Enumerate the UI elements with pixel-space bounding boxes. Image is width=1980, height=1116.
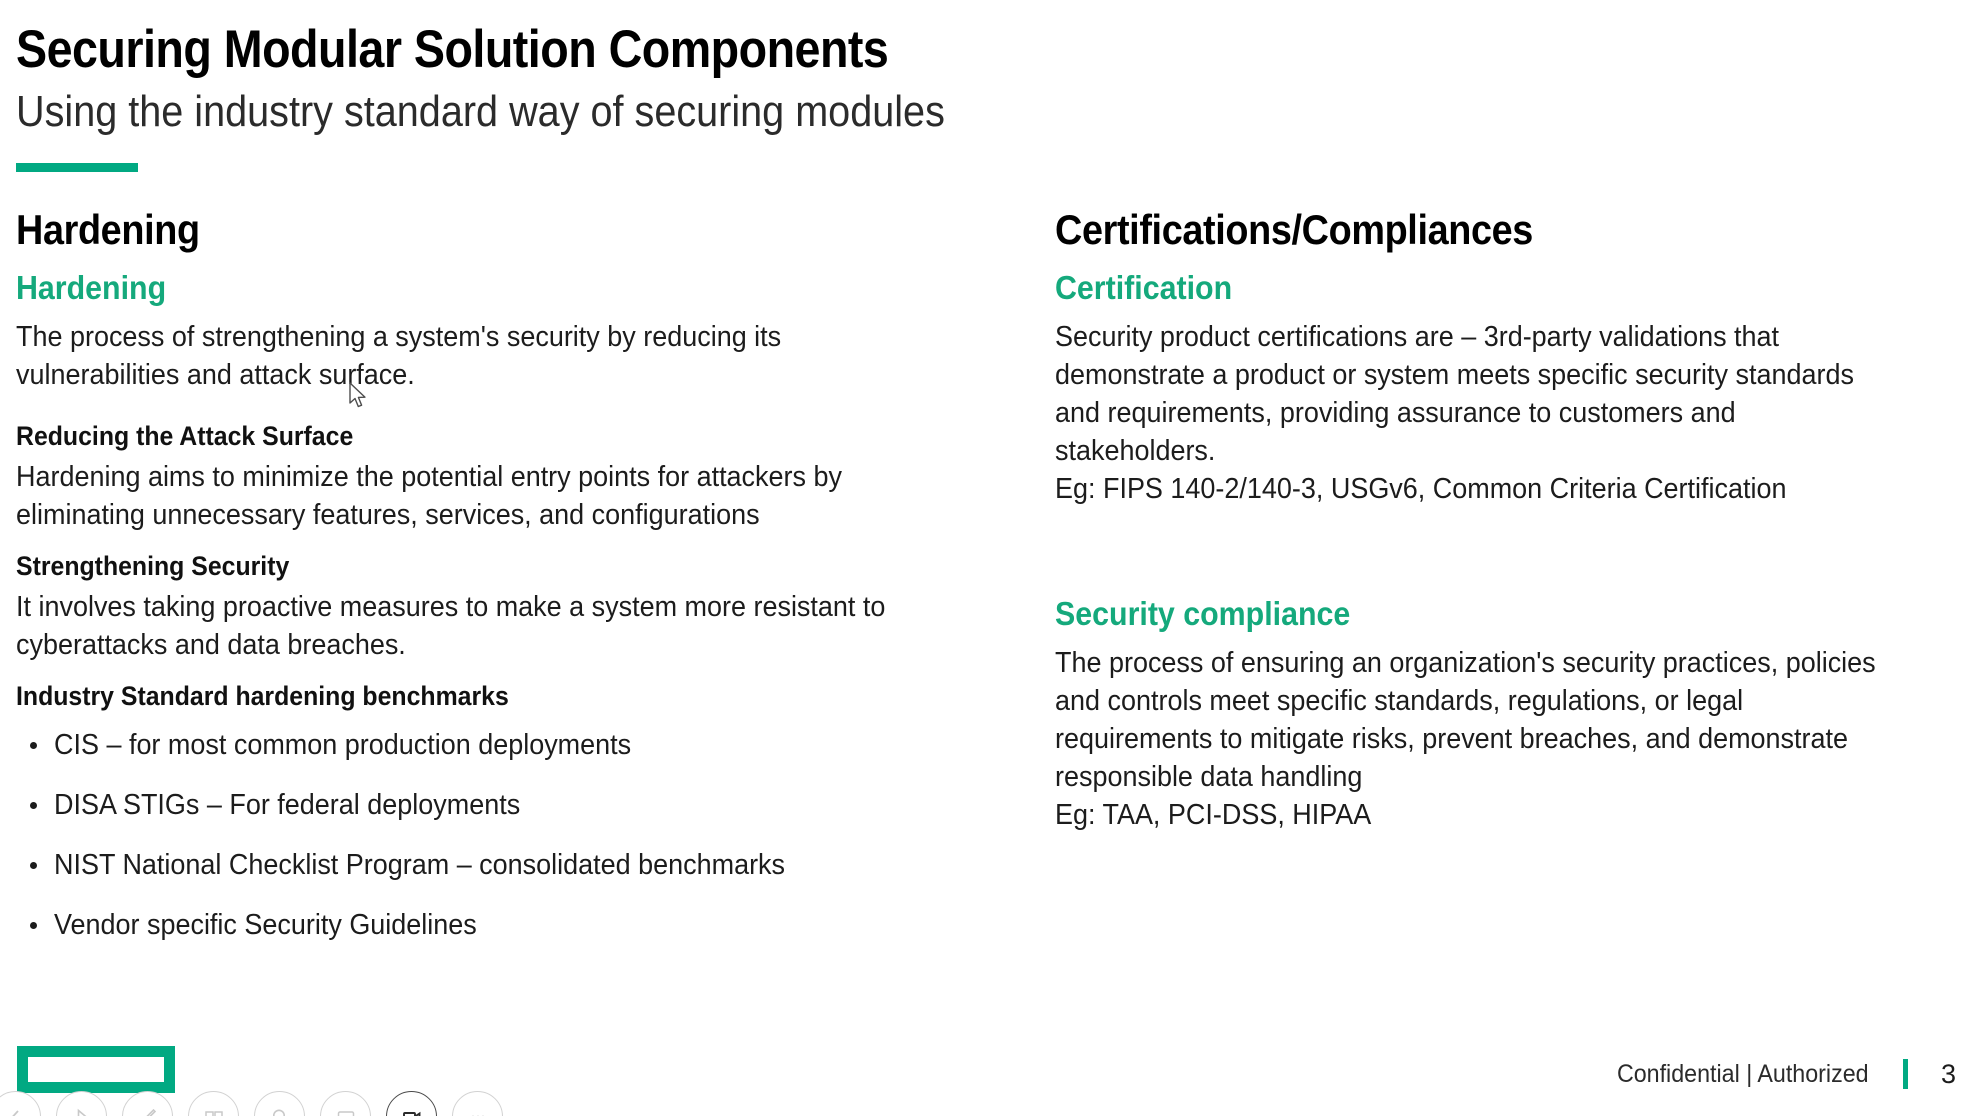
laser-pointer-button[interactable] [56, 1091, 107, 1116]
page-number: 3 [1934, 1059, 1956, 1089]
list-item-label: CIS – for most common production deploym… [54, 728, 631, 762]
layout-icon [203, 1106, 225, 1116]
left-subheading-hardening: Hardening [16, 268, 881, 308]
more-options-button[interactable] [452, 1091, 503, 1116]
spacer [16, 534, 956, 548]
video-camera-icon [401, 1106, 423, 1116]
ellipsis-icon [467, 1106, 489, 1116]
slide-layout-button[interactable] [188, 1091, 239, 1116]
magnifier-icon [269, 1106, 291, 1116]
title-accent-bar [16, 163, 138, 172]
lead-strengthening-security: Strengthening Security [16, 548, 881, 584]
footer-right: Confidential | Authorized 3 [1598, 1059, 1956, 1089]
body-security-compliance: The process of ensuring an organization'… [1055, 644, 1901, 796]
example-certification: Eg: FIPS 140-2/140-3, USGv6, Common Crit… [1055, 470, 1901, 508]
previous-slide-button[interactable] [0, 1091, 41, 1116]
list-item: Vendor specific Security Guidelines [16, 908, 956, 942]
camera-button[interactable] [386, 1091, 437, 1116]
spacer [16, 664, 956, 678]
list-item: CIS – for most common production deploym… [16, 728, 956, 762]
body-certification: Security product certifications are – 3r… [1055, 318, 1901, 470]
pen-icon [137, 1106, 159, 1116]
right-subheading-certification: Certification [1055, 268, 1892, 308]
page-title: Securing Modular Solution Components [16, 20, 1670, 80]
right-subheading-security-compliance: Security compliance [1055, 594, 1892, 634]
left-column-heading: Hardening [16, 206, 862, 254]
list-item-label: NIST National Checklist Program – consol… [54, 848, 785, 882]
presenter-toolbar[interactable] [0, 1091, 503, 1116]
slide-canvas: Securing Modular Solution Components Usi… [0, 0, 1980, 1116]
benchmark-bullet-list: CIS – for most common production deploym… [16, 728, 956, 942]
subtitles-button[interactable] [320, 1091, 371, 1116]
pen-button[interactable] [122, 1091, 173, 1116]
chevron-left-icon [6, 1107, 26, 1116]
example-security-compliance: Eg: TAA, PCI-DSS, HIPAA [1055, 796, 1901, 834]
left-intro-text: The process of strengthening a system's … [16, 318, 890, 394]
body-reducing-attack-surface: Hardening aims to minimize the potential… [16, 458, 890, 534]
left-column: Hardening Hardening The process of stren… [16, 206, 956, 968]
pointer-icon [72, 1107, 92, 1116]
spacer [1055, 508, 1965, 594]
body-strengthening-security: It involves taking proactive measures to… [16, 588, 890, 664]
lead-industry-benchmarks: Industry Standard hardening benchmarks [16, 678, 881, 714]
zoom-button[interactable] [254, 1091, 305, 1116]
lead-reducing-attack-surface: Reducing the Attack Surface [16, 418, 881, 454]
title-block: Securing Modular Solution Components Usi… [16, 20, 1896, 138]
right-column-heading: Certifications/Compliances [1055, 206, 1874, 254]
list-item-label: DISA STIGs – For federal deployments [54, 788, 520, 822]
spacer [16, 394, 956, 418]
list-item-label: Vendor specific Security Guidelines [54, 908, 477, 942]
confidentiality-label: Confidential | Authorized [1617, 1059, 1869, 1089]
page-subtitle: Using the industry standard way of secur… [16, 86, 1708, 138]
footer-separator [1903, 1059, 1908, 1089]
subtitles-icon [335, 1106, 357, 1116]
right-column: Certifications/Compliances Certification… [1055, 206, 1965, 834]
list-item: NIST National Checklist Program – consol… [16, 848, 956, 882]
hpe-logo [17, 1046, 175, 1093]
list-item: DISA STIGs – For federal deployments [16, 788, 956, 822]
